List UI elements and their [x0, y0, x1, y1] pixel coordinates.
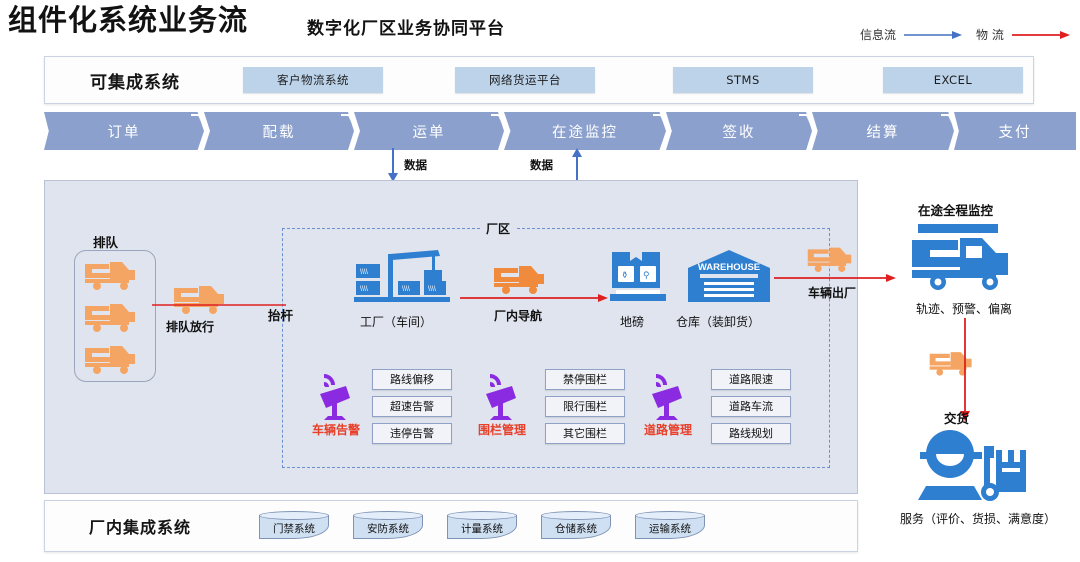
system-label: 门禁系统 [259, 520, 329, 538]
flow-step-loading[interactable]: 配载 [204, 112, 354, 150]
satellite-icon [482, 372, 528, 424]
satellite-icon [316, 372, 362, 424]
plant-integrated-systems-label: 厂内集成系统 [45, 514, 235, 538]
orange-truck-icon [83, 258, 145, 292]
integratable-systems-bar: 可集成系统 客户物流系统 网络货运平台 STMS EXCEL [44, 56, 1034, 104]
svg-text:\\\\: \\\\ [428, 286, 436, 293]
cylinder-top [259, 511, 329, 520]
plant-integrated-systems-bar: 厂内集成系统 门禁系统 安防系统 计量系统 仓储系统 运输系统 [44, 500, 858, 552]
integratable-chip-customer-logistics[interactable]: 客户物流系统 [243, 67, 383, 93]
svg-text:⚲: ⚲ [643, 270, 650, 280]
feature-item-illegal-parking-alarm[interactable]: 违停告警 [372, 423, 452, 444]
flow-step-label: 配载 [263, 121, 296, 142]
integratable-chip-stms[interactable]: STMS [673, 67, 813, 93]
feature-group-name-road-management: 道路管理 [644, 421, 692, 438]
flow-step-signoff[interactable]: 签收 [666, 112, 812, 150]
feature-group-name-vehicle-alarm: 车辆告警 [312, 421, 360, 438]
node-label-weighbridge: 地磅 [620, 313, 644, 330]
plant-navigation-arrow [460, 292, 610, 304]
monitor-to-delivery-arrow [959, 318, 971, 422]
intransit-monitor-subtitle: 轨迹、预警、偏离 [916, 300, 1012, 317]
blue-truck-icon [908, 220, 1026, 292]
integratable-chip-excel[interactable]: EXCEL [883, 67, 1023, 93]
cylinder-top [635, 511, 705, 520]
feature-item-route-planning[interactable]: 路线规划 [711, 423, 791, 444]
feature-item-restricted-fence[interactable]: 限行围栏 [545, 396, 625, 417]
queue-label: 排队 [93, 232, 118, 251]
svg-text:⚱: ⚱ [621, 270, 629, 280]
legend-info-flow-label: 信息流 [860, 26, 896, 43]
system-cylinder-transport[interactable]: 运输系统 [635, 511, 705, 541]
svg-text:\\\\: \\\\ [360, 269, 368, 276]
cylinder-top [541, 511, 611, 520]
legend-goods-flow-label: 物 流 [976, 26, 1004, 43]
vehicle-exit-label: 车辆出厂 [808, 284, 856, 301]
orange-truck-icon [928, 348, 980, 378]
flow-step-waybill[interactable]: 运单 [354, 112, 504, 150]
system-label: 仓储系统 [541, 520, 611, 538]
data-label-down: 数据 [404, 157, 427, 173]
data-arrow-down-icon [386, 148, 400, 182]
warehouse-icon: WAREHOUSE [686, 248, 772, 306]
system-label: 计量系统 [447, 520, 517, 538]
orange-truck-icon [806, 244, 860, 274]
delivery-person-icon [908, 424, 1030, 506]
feature-item-speeding-alarm[interactable]: 超速告警 [372, 396, 452, 417]
node-label-warehouse: 仓库（装卸货） [676, 313, 760, 330]
feature-item-road-speed-limit[interactable]: 道路限速 [711, 369, 791, 390]
red-arrow-icon [1012, 29, 1070, 41]
feature-item-other-fence[interactable]: 其它围栏 [545, 423, 625, 444]
delivery-subtitle: 服务（评价、货损、满意度） [900, 510, 1056, 527]
weighbridge-icon: ⚱⚲ [608, 250, 668, 306]
cylinder-top [353, 511, 423, 520]
intransit-monitor-title: 在途全程监控 [918, 200, 993, 219]
system-label: 安防系统 [353, 520, 423, 538]
flow-step-order[interactable]: 订单 [44, 112, 204, 150]
system-cylinder-storage[interactable]: 仓储系统 [541, 511, 611, 541]
flow-step-intransit-monitor[interactable]: 在途监控 [504, 112, 666, 150]
node-label-plant-navigation: 厂内导航 [494, 307, 542, 324]
system-cylinder-security[interactable]: 安防系统 [353, 511, 423, 541]
orange-truck-icon [492, 262, 554, 296]
satellite-icon [648, 372, 694, 424]
node-label-factory: 工厂（车间） [360, 313, 432, 330]
orange-truck-icon [83, 342, 145, 376]
platform-title: 数字化厂区业务协同平台 [0, 14, 812, 39]
vehicle-exit-arrow [774, 272, 898, 284]
queue-release-label: 排队放行 [166, 318, 214, 335]
integratable-systems-label: 可集成系统 [45, 68, 225, 93]
cylinder-top [447, 511, 517, 520]
orange-truck-icon [83, 300, 145, 334]
flow-step-label: 运单 [413, 121, 446, 142]
flow-step-label: 签收 [723, 121, 756, 142]
feature-group-name-fence-management: 围栏管理 [478, 421, 526, 438]
factory-icon: \\\\\\\\ \\\\\\\\ [352, 248, 456, 306]
feature-item-route-deviation[interactable]: 路线偏移 [372, 369, 452, 390]
system-label: 运输系统 [635, 520, 705, 538]
factory-zone-label: 厂区 [480, 220, 516, 237]
svg-text:\\\\: \\\\ [402, 286, 410, 293]
svg-text:\\\\: \\\\ [360, 286, 368, 293]
system-cylinder-metering[interactable]: 计量系统 [447, 511, 517, 541]
flow-step-label: 在途监控 [552, 121, 618, 142]
warehouse-badge-text: WAREHOUSE [698, 262, 760, 273]
feature-item-no-parking-fence[interactable]: 禁停围栏 [545, 369, 625, 390]
legend: 信息流 物 流 [860, 26, 1070, 43]
process-flow-band: 订单 配载 运单 在途监控 签收 结算 支付 [44, 112, 1076, 150]
system-cylinder-access-control[interactable]: 门禁系统 [259, 511, 329, 541]
data-label-up: 数据 [530, 157, 553, 173]
orange-truck-icon [172, 282, 234, 316]
flow-step-settlement[interactable]: 结算 [812, 112, 954, 150]
blue-arrow-icon [904, 29, 962, 41]
feature-item-road-traffic[interactable]: 道路车流 [711, 396, 791, 417]
flow-step-label: 订单 [108, 121, 141, 142]
gate-lift-label: 抬杆 [268, 305, 293, 324]
flow-step-label: 支付 [999, 121, 1032, 142]
data-arrow-up-icon [570, 148, 584, 182]
flow-step-label: 结算 [867, 121, 900, 142]
flow-step-payment[interactable]: 支付 [954, 112, 1076, 150]
integratable-chip-network-freight[interactable]: 网络货运平台 [455, 67, 595, 93]
